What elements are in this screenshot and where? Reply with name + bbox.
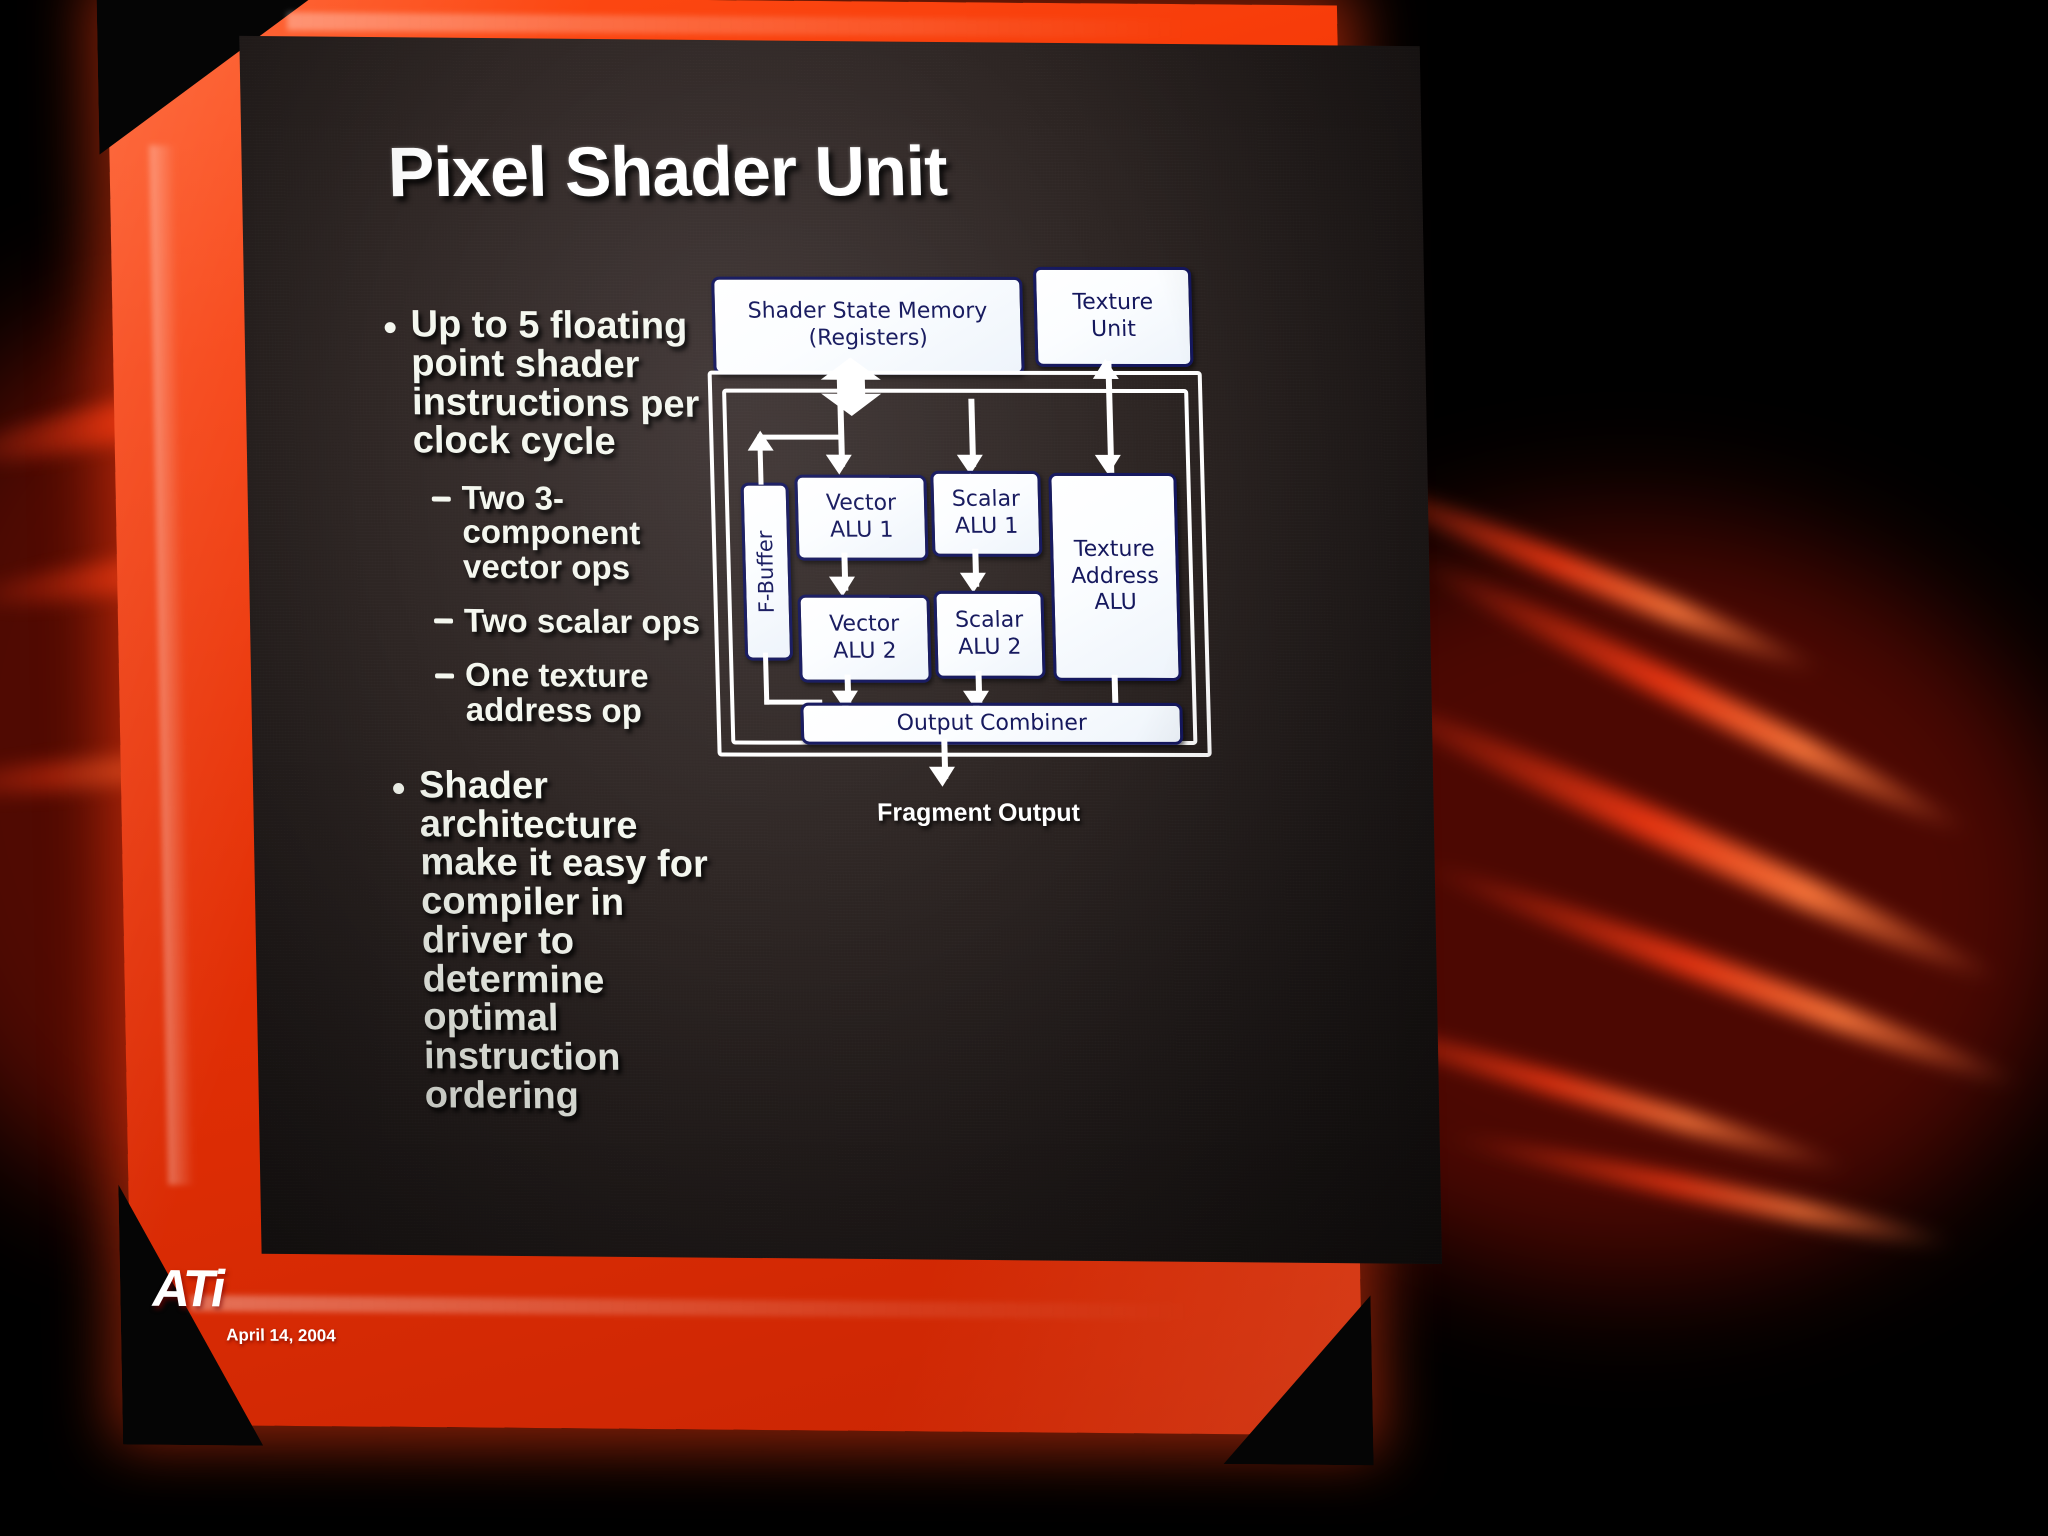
wire-vector-alu1-to-alu2 <box>841 553 848 591</box>
arrowhead-down-scalar-alu2 <box>960 573 987 593</box>
arrowhead-down-output-vector <box>832 691 859 711</box>
bullet-list: Up to 5 floating point shader instructio… <box>384 305 729 1127</box>
box-vector-alu-2: Vector ALU 2 <box>797 595 931 683</box>
bullet-text: Two scalar ops <box>464 602 701 641</box>
bullet-item-3: Two scalar ops <box>434 603 721 640</box>
arrowhead-down-vector-alu1 <box>826 455 853 475</box>
projector-panel: Pixel Shader Unit Up to 5 floating point… <box>107 0 1364 1455</box>
box-label-line1: Vector <box>829 612 900 639</box>
bullet-dash-icon <box>432 496 451 501</box>
bullet-text: Shader architecture make it easy for com… <box>419 764 709 1117</box>
bullet-text: Up to 5 floating point shader instructio… <box>410 303 699 463</box>
slide-content: Pixel Shader Unit Up to 5 floating point… <box>239 36 1442 1264</box>
arrowhead-down-vector-alu2 <box>829 577 856 597</box>
slide-screen: Pixel Shader Unit Up to 5 floating point… <box>239 36 1442 1264</box>
bullet-item-1: Up to 5 floating point shader instructio… <box>384 305 717 463</box>
box-label-line1: Texture <box>1072 290 1153 317</box>
box-label-line2: ALU 2 <box>955 635 1024 662</box>
wire-output-combiner-to-fragment-output <box>941 739 948 779</box>
wire-texture-address-alu-to-output <box>1112 675 1119 705</box>
box-texture-unit: Texture Unit <box>1033 267 1194 367</box>
page-title: Pixel Shader Unit <box>387 131 948 212</box>
box-label-line2: (Registers) <box>748 326 988 353</box>
box-label-line1: Scalar <box>952 487 1021 514</box>
wire-f-buffer-to-output-row <box>764 700 822 705</box>
bullet-text: Two 3-component vector ops <box>461 479 640 586</box>
bidirectional-fat-arrow-icon <box>805 357 897 417</box>
box-texture-address-alu: Texture Address ALU <box>1048 473 1181 681</box>
wire-texture-unit-to-texture-address-alu <box>1105 361 1114 473</box>
box-label-line2: ALU 1 <box>826 518 897 545</box>
box-output-combiner: Output Combiner <box>800 703 1183 745</box>
slide-date: April 14, 2004 <box>226 1325 336 1346</box>
label-fragment-output: Fragment Output <box>877 799 1081 828</box>
box-label-line2: Address <box>1071 563 1159 590</box>
wire-registers-to-scalar-alu1 <box>968 399 976 467</box>
slide-footer: ATi April 14, 2004 <box>130 1253 1342 1374</box>
arrowhead-down-output-scalar <box>963 691 990 711</box>
bullet-item-4: One texture address op <box>435 658 722 729</box>
box-label-line1: Scalar <box>955 608 1024 635</box>
box-label-line2: ALU 1 <box>952 514 1021 541</box>
photo-of-projected-slide: Pixel Shader Unit Up to 5 floating point… <box>0 0 2048 1536</box>
box-label-line1: Vector <box>826 491 897 518</box>
bullet-dot-icon <box>385 323 396 334</box>
box-scalar-alu-2: Scalar ALU 2 <box>933 591 1045 679</box>
wire-top-rail-to-f-buffer <box>757 435 841 440</box>
wire-scalar-alu2-to-output <box>975 671 982 705</box>
bullet-item-2: Two 3-component vector ops <box>431 480 719 585</box>
arrowhead-down-fragment-output <box>929 767 956 787</box>
box-label-line2: Unit <box>1073 317 1154 344</box>
bullet-dash-icon <box>435 673 454 678</box>
arrowhead-down-scalar-alu1 <box>957 455 984 475</box>
wire-scalar-alu1-to-alu2 <box>972 549 979 587</box>
ati-logo: ATi <box>152 1259 223 1320</box>
bullet-dash-icon <box>434 619 453 624</box>
box-label-line2: ALU 2 <box>830 639 901 666</box>
box-f-buffer: F-Buffer <box>741 483 794 661</box>
box-vector-alu-1: Vector ALU 1 <box>794 475 928 561</box>
box-scalar-alu-1: Scalar ALU 1 <box>930 471 1042 557</box>
bullet-item-5: Shader architecture make it easy for com… <box>393 766 729 1118</box>
diagram-outer-frame <box>708 371 1212 757</box>
box-shader-state-memory: Shader State Memory (Registers) <box>711 277 1025 375</box>
box-label-line1: Shader State Memory <box>747 299 987 326</box>
wire-registers-to-vector-alu1 <box>837 399 845 467</box>
box-label: Output Combiner <box>892 708 1091 739</box>
box-label: F-Buffer <box>749 528 785 615</box>
arrowhead-up-texture-unit <box>1092 359 1119 379</box>
pixel-shader-block-diagram: Shader State Memory (Registers) Texture … <box>703 259 1412 980</box>
wire-vector-alu2-to-output <box>845 675 852 705</box>
bullet-dot-icon <box>393 783 404 794</box>
wire-f-buffer-up <box>757 435 763 485</box>
arrowhead-down-texture-address-alu <box>1095 455 1122 475</box>
box-label-line3: ALU <box>1072 590 1160 617</box>
box-label-line1: Texture <box>1070 537 1158 564</box>
diagram-inner-frame <box>722 389 1197 745</box>
arrowhead-up-f-buffer <box>747 431 774 451</box>
wire-f-buffer-down <box>763 653 769 705</box>
bullet-text: One texture address op <box>465 656 649 729</box>
